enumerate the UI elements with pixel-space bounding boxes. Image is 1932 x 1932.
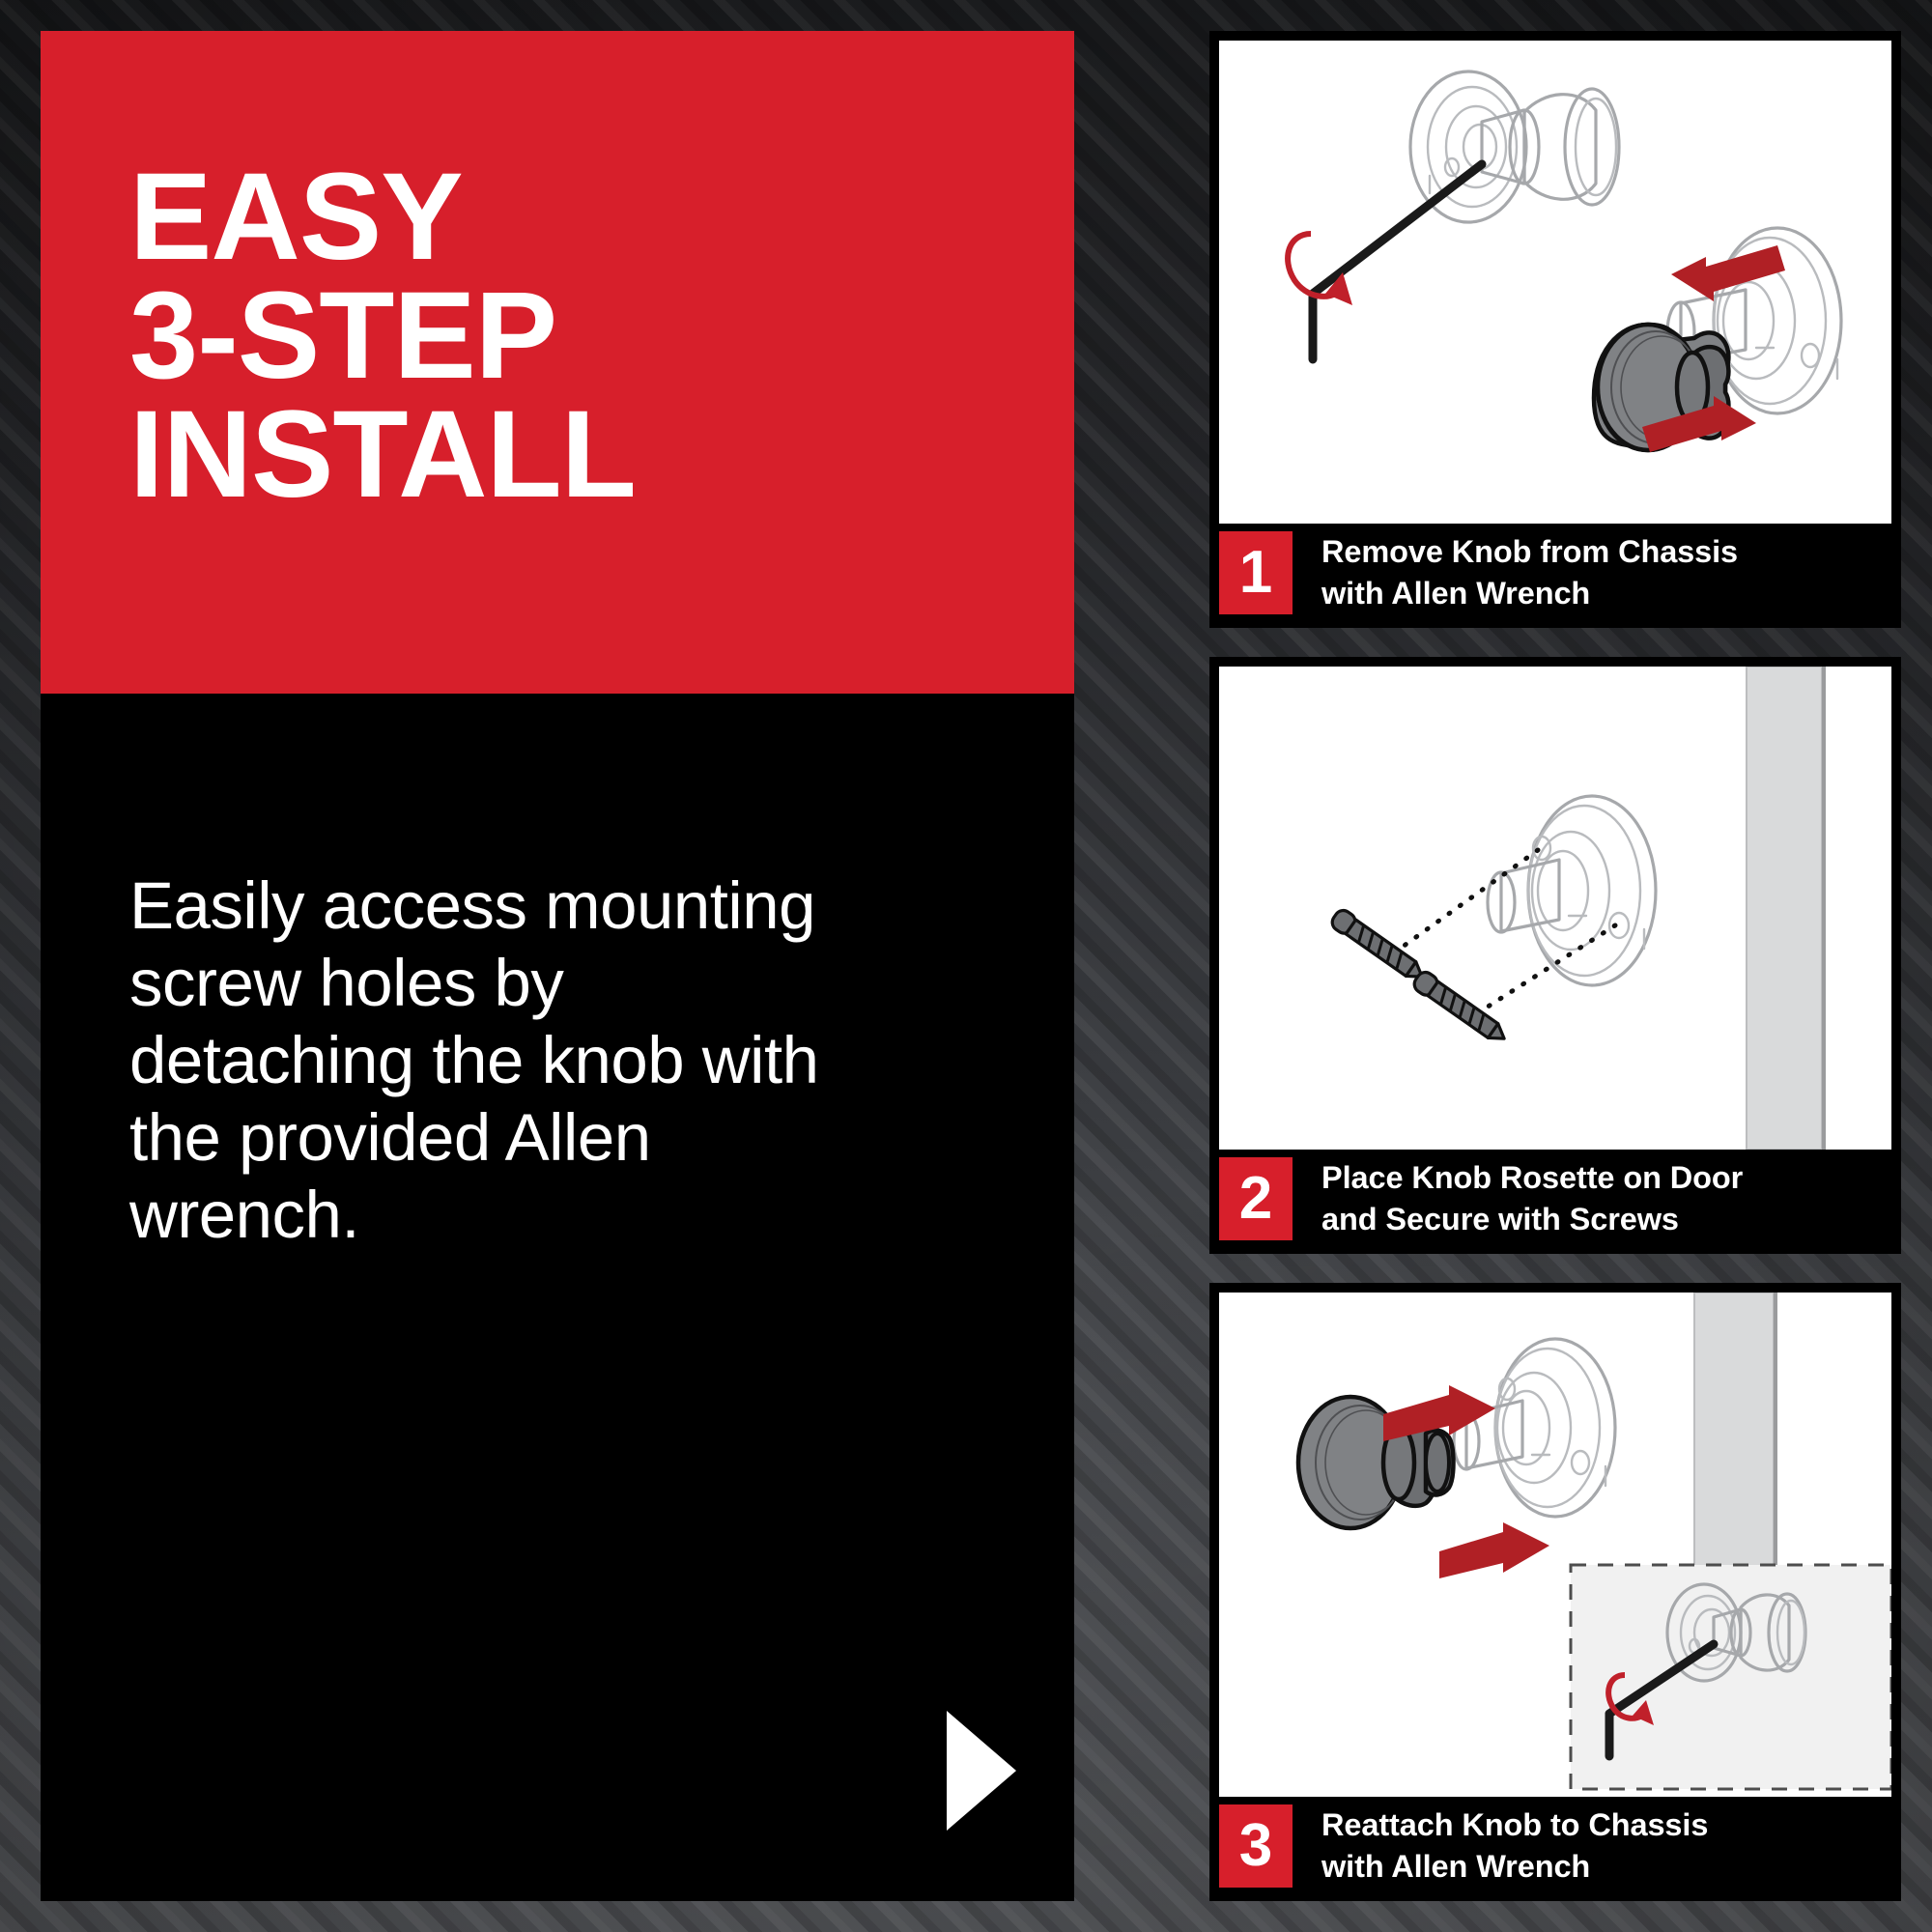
steps-column: 1 Remove Knob from Chassis with Allen Wr… [1209,31,1901,1901]
step-number-badge-1: 1 [1219,531,1293,614]
step-caption-3-line-1: Reattach Knob to Chassis [1321,1804,1891,1846]
headline-line-2: 3-STEP [129,277,1037,396]
allen-wrench-icon [1313,164,1482,359]
headline-line-1: EASY [129,158,1037,277]
mount-rosette-illustration [1219,667,1891,1150]
remove-knob-illustration [1219,41,1891,524]
step-caption-1: 1 Remove Knob from Chassis with Allen Wr… [1219,531,1891,614]
push-arrow-lower [1439,1522,1549,1578]
alignment-dotted-line-upper [1403,850,1538,947]
inset-detail-box [1571,1565,1891,1789]
step-caption-2-line-1: Place Knob Rosette on Door [1321,1157,1891,1199]
rosette-outline [1488,796,1656,985]
step-caption-2: 2 Place Knob Rosette on Door and Secure … [1219,1157,1891,1240]
step-card-2: 2 Place Knob Rosette on Door and Secure … [1209,657,1901,1254]
mounting-screw-lower [1411,969,1511,1047]
mounted-rosette-outline [1454,1339,1615,1517]
step-caption-1-line-1: Remove Knob from Chassis [1321,531,1891,573]
step-number-badge-2: 2 [1219,1157,1293,1240]
body-line-6: wrench. [129,1178,359,1252]
body-panel: Easily access mounting screw holes by de… [41,694,1074,1901]
step-caption-text-1: Remove Knob from Chassis with Allen Wren… [1293,531,1891,614]
step-caption-3-line-2: with Allen Wrench [1321,1846,1891,1888]
page-title: EASY 3-STEP INSTALL [129,158,1037,515]
body-line-5: provided Allen [239,1100,650,1175]
step-card-1: 1 Remove Knob from Chassis with Allen Wr… [1209,31,1901,628]
step-number-badge-3: 3 [1219,1804,1293,1888]
step-caption-text-2: Place Knob Rosette on Door and Secure wi… [1293,1157,1891,1240]
step-caption-text-3: Reattach Knob to Chassis with Allen Wren… [1293,1804,1891,1888]
reattach-knob-illustration [1219,1293,1891,1797]
step-card-3: 3 Reattach Knob to Chassis with Allen Wr… [1209,1283,1901,1901]
left-column: EASY 3-STEP INSTALL Easily access mounti… [41,31,1074,1901]
door-edge-strip [1747,667,1826,1150]
step-caption-3: 3 Reattach Knob to Chassis with Allen Wr… [1219,1804,1891,1888]
step-caption-1-line-2: with Allen Wrench [1321,573,1891,614]
headline-line-3: INSTALL [129,396,1037,515]
infographic-canvas: EASY 3-STEP INSTALL Easily access mounti… [0,0,1932,1932]
door-edge-strip [1694,1293,1777,1582]
headline-panel: EASY 3-STEP INSTALL [41,31,1074,694]
play-triangle-right-icon [947,1711,1016,1831]
body-line-1: Easily access [129,868,526,943]
step-caption-2-line-2: and Secure with Screws [1321,1199,1891,1240]
body-paragraph: Easily access mounting screw holes by de… [129,867,825,1254]
mounting-screw-upper [1329,907,1429,985]
